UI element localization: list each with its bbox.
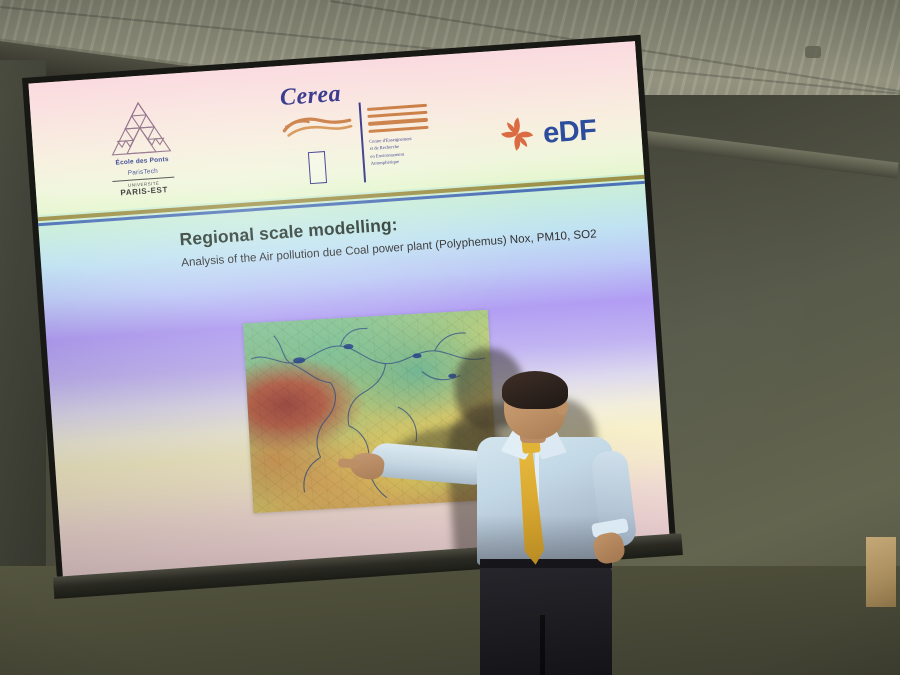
edf-pinwheel-icon [494, 112, 541, 159]
cerea-stripe-icon [367, 111, 427, 118]
cerea-stripe-icon [368, 118, 428, 125]
cerea-stripe-icon [367, 104, 427, 111]
presenter-trousers [480, 563, 612, 675]
presenter-pointing-arm [369, 442, 492, 486]
presenter-belt [480, 559, 612, 568]
logo-cerea-wordmark: Cerea [279, 81, 354, 110]
ceiling-vent-icon [805, 46, 821, 58]
wooden-block-object [866, 537, 896, 607]
cerea-hand-icon [281, 109, 355, 144]
presenter-hair [502, 371, 568, 409]
sierpinski-triangle-icon [106, 98, 174, 158]
logo-ecole-des-ponts: École des Ponts ParisTech UNIVERSITÉ PAR… [88, 96, 194, 195]
presentation-room-photo: École des Ponts ParisTech UNIVERSITÉ PAR… [0, 0, 900, 675]
logo-cerea-left: Cerea [279, 81, 357, 149]
logo-cerea-divider [359, 102, 366, 182]
presenter [330, 375, 660, 675]
logo-cerea-right: Centre d'Enseignement et de Recherche en… [367, 104, 431, 168]
cerea-stripe-icon [368, 125, 428, 132]
logo-edf-wordmark: eDF [542, 116, 597, 149]
cerea-rectangle-icon [308, 151, 327, 184]
presenter-trouser-seam [540, 615, 545, 675]
presenter-shirt-shading [477, 515, 613, 565]
logo-edf: eDF [494, 105, 615, 161]
presenter-pointing-finger [338, 458, 361, 469]
logo-cerea: Cerea Centre d'Enseignement et de Rec [279, 77, 416, 191]
